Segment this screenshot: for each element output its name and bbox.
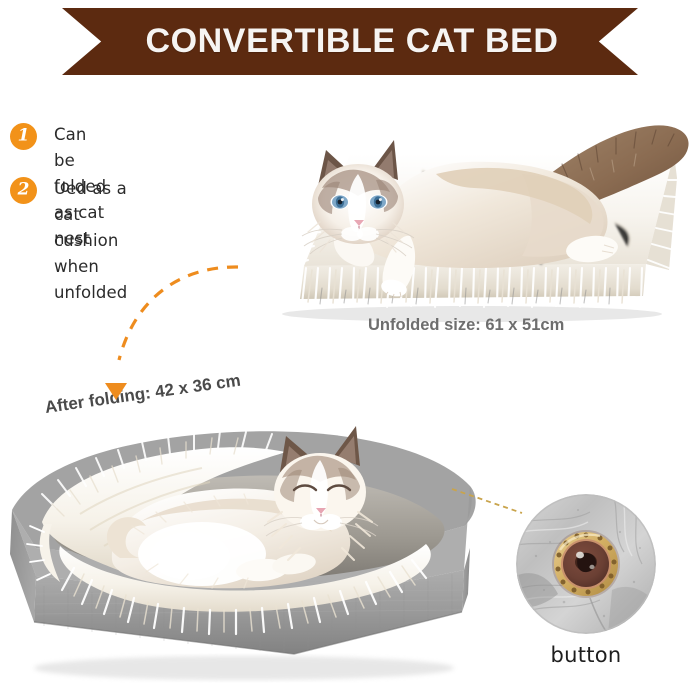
photo-unfolded-bed [222, 118, 700, 323]
button-detail-zoom [516, 494, 656, 634]
title-banner: CONVERTIBLE CAT BED [62, 8, 638, 75]
button-detail-label: button [516, 643, 656, 667]
caption-unfolded-size: Unfolded size: 61 x 51cm [368, 316, 564, 335]
feature-item-2-text: Ued as a cat cushion when unfolded [54, 176, 127, 306]
folded-bed-illustration [0, 398, 494, 683]
photo-folded-bed [0, 398, 494, 683]
number-badge-2-label: 2 [18, 182, 30, 199]
button-detail-illustration [516, 494, 656, 634]
number-badge-2: 2 [10, 177, 37, 204]
feature-item-2: 2 Ued as a cat cushion when unfolded [10, 176, 127, 306]
number-badge-1-label: 1 [18, 128, 30, 145]
unfolded-bed-illustration [222, 118, 700, 323]
infographic-canvas: CONVERTIBLE CAT BED 1 Can be folded as c… [0, 0, 700, 700]
page-title: CONVERTIBLE CAT BED [145, 22, 558, 61]
number-badge-1: 1 [10, 123, 37, 150]
fold-transition-arrow-line [119, 267, 238, 360]
